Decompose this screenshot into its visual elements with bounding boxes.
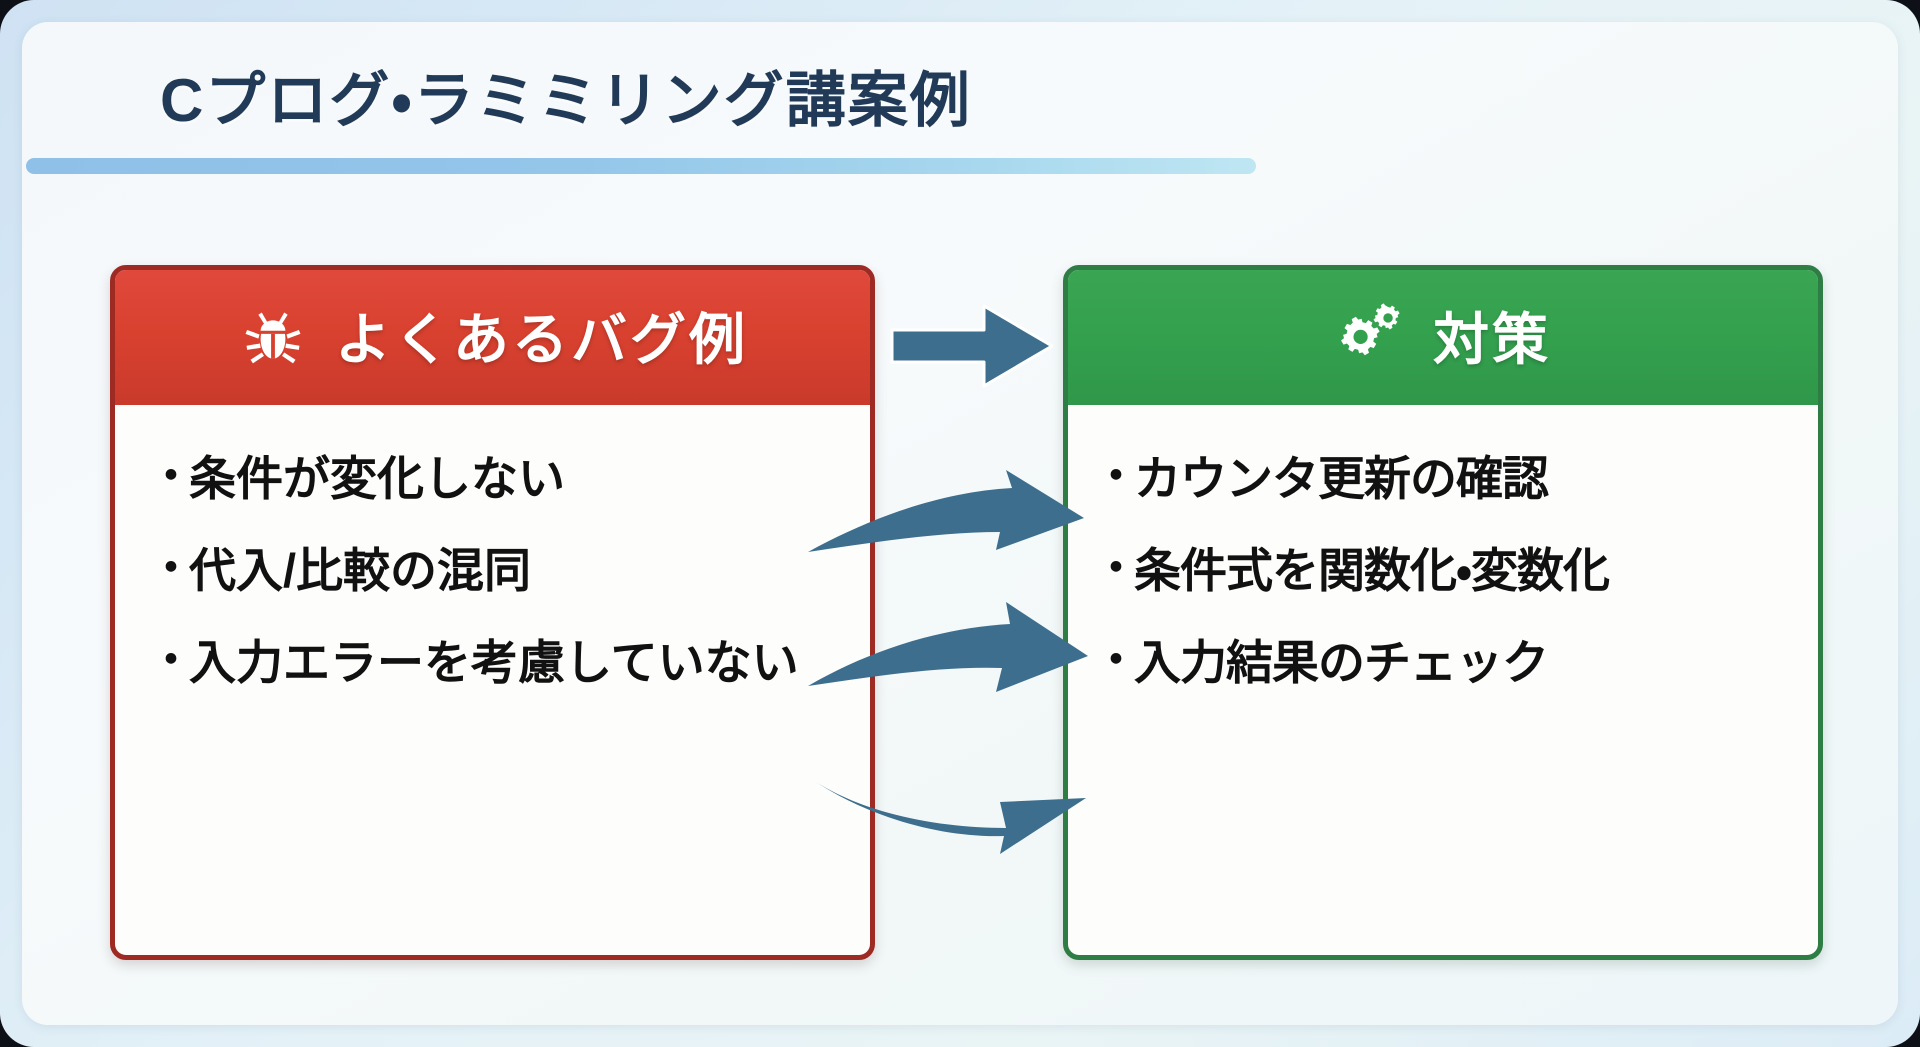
bullet-label: 条件式を関数化・変数化 bbox=[1134, 541, 1609, 601]
fix-card-title: 対策 bbox=[1433, 295, 1551, 376]
bullet-label: カウンタ更新の確認 bbox=[1134, 449, 1548, 509]
bullet-marker: ・ bbox=[149, 541, 189, 596]
list-item: ・ 条件が変化しない bbox=[149, 449, 840, 509]
list-item: ・ 入力結果のチェック bbox=[1094, 633, 1808, 693]
slide-frame: Cプログ・ラミミリング講案例 bbox=[0, 0, 1920, 1047]
bullet-label: 代入/比較の混同 bbox=[189, 541, 531, 601]
title-block: Cプログ・ラミミリング講案例 bbox=[0, 32, 1920, 162]
list-item: ・ カウンタ更新の確認 bbox=[1094, 449, 1808, 509]
gears-icon bbox=[1335, 299, 1407, 371]
bullet-marker: ・ bbox=[149, 449, 189, 504]
bug-card-body: ・ 条件が変化しない ・ 代入/比較の混同 ・ 入力エラーを考慮していない bbox=[115, 405, 870, 693]
list-item: ・ 入力エラーを考慮していない bbox=[149, 633, 840, 693]
bug-card: よくあるバグ例 ・ 条件が変化しない ・ 代入/比較の混同 ・ 入力エラーを考慮… bbox=[110, 265, 875, 960]
page-title: Cプログ・ラミミリング講案例 bbox=[160, 52, 972, 139]
bullet-label: 入力結果のチェック bbox=[1134, 633, 1548, 693]
bullet-label: 入力エラーを考慮していない bbox=[189, 633, 799, 693]
bug-card-title: よくあるバグ例 bbox=[335, 295, 748, 376]
bug-icon bbox=[237, 299, 309, 371]
list-item: ・ 代入/比較の混同 bbox=[149, 541, 840, 601]
fix-card-body: ・ カウンタ更新の確認 ・ 条件式を関数化・変数化 ・ 入力結果のチェック bbox=[1068, 405, 1818, 693]
bullet-marker: ・ bbox=[1094, 449, 1134, 504]
title-underline-rule bbox=[26, 158, 1256, 174]
fix-card-header: 対策 bbox=[1063, 265, 1823, 405]
bullet-marker: ・ bbox=[1094, 633, 1134, 688]
bullet-label: 条件が変化しない bbox=[189, 449, 565, 509]
list-item: ・ 条件式を関数化・変数化 bbox=[1094, 541, 1808, 601]
bullet-marker: ・ bbox=[149, 633, 189, 688]
bullet-marker: ・ bbox=[1094, 541, 1134, 596]
bug-card-header: よくあるバグ例 bbox=[110, 265, 875, 405]
fix-card: 対策 ・ カウンタ更新の確認 ・ 条件式を関数化・変数化 ・ 入力結果のチェック bbox=[1063, 265, 1823, 960]
